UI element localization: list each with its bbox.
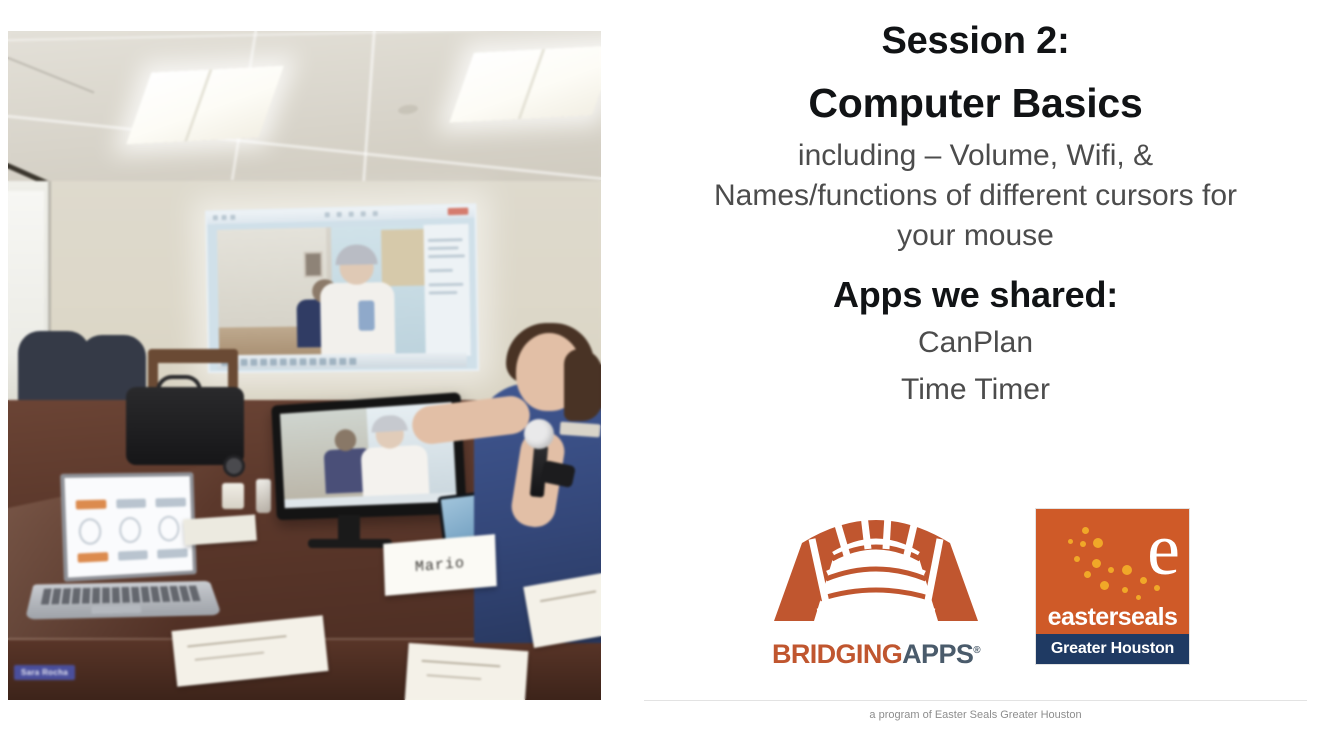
laptop-screen	[60, 472, 197, 582]
water-bottle	[256, 479, 271, 513]
easterseals-monogram: e	[1147, 513, 1180, 587]
screen-chip	[155, 498, 186, 508]
accent-dot	[1108, 567, 1114, 573]
accent-dot	[1074, 556, 1080, 562]
name-tent-card: Mario	[383, 534, 497, 596]
accent-dot	[1100, 581, 1109, 590]
laptop-keyboard-base	[25, 581, 222, 620]
laptop-trackpad	[91, 605, 141, 614]
app-sidebar-panel	[423, 224, 470, 356]
subtitle-line-1: including – Volume, Wifi, &	[630, 136, 1321, 176]
easterseals-region: Greater Houston	[1036, 634, 1189, 664]
toolbar-icon	[349, 212, 354, 217]
slide-text-column: Session 2: Computer Basics including – V…	[630, 0, 1321, 738]
taskbar-icon	[319, 358, 326, 365]
bridgingapps-logo: BRIDGINGAPPS®	[761, 503, 991, 670]
screen-glyph	[158, 515, 180, 541]
toolbar-icon	[337, 212, 342, 217]
registered-trademark-icon: ®	[973, 645, 980, 656]
taskbar-icon	[280, 358, 287, 365]
screen-glyph	[119, 517, 142, 544]
paper-sheet	[404, 643, 529, 700]
handwriting-line	[540, 590, 596, 602]
handwriting-line	[187, 635, 287, 647]
paper-sheet	[183, 515, 257, 546]
subtitle-line-3: your mouse	[630, 216, 1321, 256]
footer-tagline: a program of Easter Seals Greater Housto…	[630, 709, 1321, 721]
ceiling-tile-line	[8, 109, 601, 193]
accent-dot	[1068, 539, 1073, 544]
taskbar-icon	[339, 357, 346, 364]
light-divider	[184, 69, 212, 141]
accent-dot	[1080, 541, 1086, 547]
ceiling	[8, 31, 601, 196]
handwriting-line	[426, 674, 481, 680]
bridge-icon	[768, 503, 984, 635]
app-item-time-timer: Time Timer	[630, 369, 1321, 410]
easterseals-logo: e easterseals Great	[1035, 508, 1190, 665]
taskbar-icon	[329, 358, 336, 365]
ceiling-tile-line	[362, 31, 377, 186]
taskbar-icon	[309, 358, 316, 365]
projector-screen	[205, 203, 479, 373]
video-participant-name-label: Sara Rocha	[14, 665, 75, 680]
taskbar-icon	[270, 358, 277, 365]
monitor-base	[308, 539, 392, 548]
black-bag	[126, 387, 244, 465]
name-tent-card-text: Mario	[415, 554, 465, 575]
cup	[222, 483, 244, 509]
ceiling-tile-line	[8, 31, 601, 41]
screen-chip	[157, 548, 188, 558]
light-divider	[518, 49, 546, 119]
laptop-keyboard	[41, 586, 201, 605]
accent-dot	[1122, 565, 1132, 575]
app-item-canplan: CanPlan	[630, 322, 1321, 363]
screen-chip	[78, 552, 109, 563]
screen-glyph	[78, 518, 101, 545]
easterseals-wordmark: easterseals	[1036, 603, 1189, 632]
accent-dot	[1122, 587, 1128, 593]
toolbar-icon	[325, 212, 330, 217]
presentation-slide: Mario Sara Rocha Session 2: Computer Bas…	[0, 0, 1321, 738]
footer-divider	[644, 700, 1307, 701]
wall-picture	[304, 251, 323, 277]
window-control	[222, 215, 227, 220]
accent-dot	[1136, 595, 1141, 600]
session-title-line2: Computer Basics	[630, 81, 1321, 127]
accent-dot	[1140, 577, 1147, 584]
photo-content: Mario Sara Rocha	[8, 31, 601, 700]
ceiling-light	[449, 45, 601, 122]
accent-dot	[1082, 527, 1089, 534]
accent-dot	[1154, 585, 1160, 591]
session-title-line1: Session 2:	[630, 20, 1321, 63]
remote-participant-2-item	[358, 300, 375, 330]
taskbar-icon	[349, 357, 356, 364]
taskbar-icon	[290, 358, 297, 365]
presenter-name-badge	[560, 422, 601, 438]
sidebar-text-line	[428, 246, 459, 250]
bridgingapps-word-primary: BRIDGING	[772, 639, 902, 669]
screen-chip	[76, 500, 107, 510]
taskbar-icon	[299, 358, 306, 365]
microphone-head	[524, 419, 554, 449]
sidebar-text-line	[428, 254, 465, 258]
ceiling-vent	[397, 104, 418, 116]
handwriting-line	[195, 652, 265, 661]
apps-heading: Apps we shared:	[630, 275, 1321, 315]
sidebar-text-line	[428, 238, 463, 242]
bag-handle	[156, 375, 202, 391]
accent-dot	[1084, 571, 1091, 578]
window-control	[213, 215, 218, 220]
subtitle-line-2: Names/functions of different cursors for	[630, 176, 1321, 216]
presenter-hair-side	[564, 349, 601, 421]
sidebar-text-line	[428, 269, 453, 273]
handwriting-line	[421, 660, 500, 668]
session-photo: Mario Sara Rocha	[8, 31, 601, 700]
accent-dot	[1093, 538, 1103, 548]
window-control	[230, 215, 235, 220]
close-icon	[448, 208, 469, 216]
toolbar-icon	[361, 211, 366, 216]
bridgingapps-wordmark: BRIDGINGAPPS®	[772, 639, 980, 670]
accent-dot	[1092, 559, 1101, 568]
door	[381, 229, 424, 286]
logo-row: BRIDGINGAPPS® e	[630, 484, 1321, 689]
screen-chip	[118, 550, 148, 560]
ceiling-tile-line	[8, 50, 94, 93]
bridgingapps-word-secondary: APPS	[902, 639, 973, 669]
bag-wheel	[223, 455, 245, 477]
sidebar-text-line	[429, 291, 458, 295]
easterseals-mark: e easterseals	[1036, 509, 1189, 634]
screen-chip	[116, 499, 146, 509]
sidebar-text-line	[429, 283, 464, 287]
chair-frame	[148, 349, 238, 363]
video-call-feed	[217, 225, 432, 358]
toolbar-icon	[373, 211, 378, 216]
ceiling-light	[126, 66, 284, 145]
